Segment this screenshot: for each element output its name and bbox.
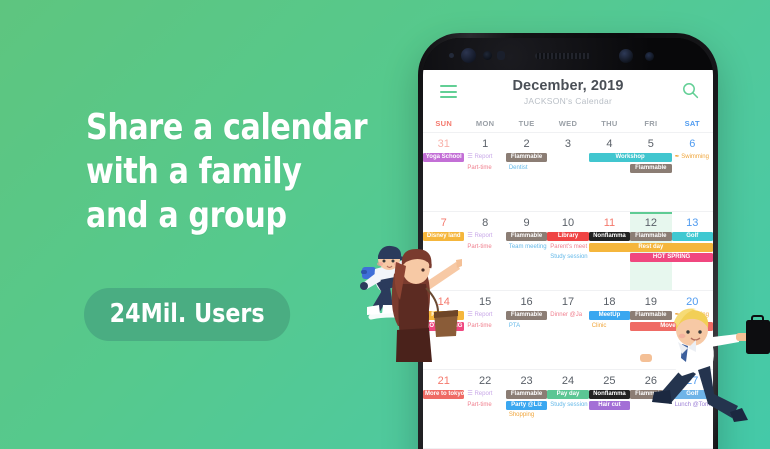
calendar-week-row: 31123456Yoga School☰ ReportPart-timeFlam…: [423, 133, 713, 212]
calendar-event-chip[interactable]: ✒ Swimming: [672, 153, 713, 162]
day-number: 12: [630, 216, 671, 230]
day-number: 17: [547, 295, 588, 309]
headline-line-2: with a family: [86, 150, 367, 194]
calendar-day-cell-17[interactable]: 17: [547, 291, 588, 369]
calendar-event-chip[interactable]: Party @Liz: [506, 401, 547, 410]
calendar-event-chip[interactable]: Pay day: [547, 390, 588, 399]
calendar-event-chip[interactable]: Part-time: [464, 401, 505, 410]
calendar-event-chip[interactable]: Rest day: [589, 243, 713, 252]
day-number: 1: [464, 137, 505, 151]
calendar-week-row: 78910111213Disney land☰ ReportPart-timeF…: [423, 212, 713, 291]
headline-line-1: Share a calendar: [86, 106, 367, 150]
day-number: 25: [589, 374, 630, 388]
calendar-event-chip[interactable]: Flammable: [506, 232, 547, 241]
day-number: 4: [589, 137, 630, 151]
calendar-event-chip[interactable]: Flammable: [506, 390, 547, 399]
calendar-event-chip[interactable]: ☰ Report: [464, 390, 505, 399]
day-header-sat: SAT: [672, 119, 713, 128]
calendar-event-chip[interactable]: Flammable: [506, 153, 547, 162]
calendar-event-chip[interactable]: More to tokyo: [423, 390, 464, 399]
calendar-event-chip[interactable]: Flammable: [506, 311, 547, 320]
calendar-event-chip[interactable]: ☰ Report: [464, 311, 505, 320]
day-number: 8: [464, 216, 505, 230]
day-number: 23: [506, 374, 547, 388]
calendar-event-chip[interactable]: Library: [547, 232, 588, 241]
day-header-fri: FRI: [630, 119, 671, 128]
day-number: 22: [464, 374, 505, 388]
woman-with-handbag-pointing: [382, 238, 462, 363]
calendar-event-chip[interactable]: Nonflamma: [589, 232, 630, 241]
sensor-dot-icon: [449, 53, 454, 58]
earpiece-speaker-icon: [535, 53, 591, 59]
calendar-event-chip[interactable]: Team meeting: [506, 243, 547, 252]
calendar-event-chip[interactable]: Flammable: [630, 232, 671, 241]
day-number: 5: [630, 137, 671, 151]
calendar-day-cell-6[interactable]: 6: [672, 133, 713, 211]
calendar-day-cell-21[interactable]: 21: [423, 370, 464, 448]
calendar-event-chip[interactable]: Dentist: [506, 164, 547, 173]
day-number: 9: [506, 216, 547, 230]
calendar-event-chip[interactable]: ☰ Report: [464, 153, 505, 162]
light-sensor-icon: [645, 52, 654, 61]
user-count-badge: 24Mil. Users: [84, 288, 290, 341]
businessman-with-briefcase: [638, 300, 770, 440]
calendar-day-cell-31[interactable]: 31: [423, 133, 464, 211]
day-header-mon: MON: [464, 119, 505, 128]
calendar-day-cell-3[interactable]: 3: [547, 133, 588, 211]
calendar-event-chip[interactable]: Shopping: [506, 411, 547, 420]
calendar-event-chip[interactable]: Golf: [672, 232, 713, 241]
headline-line-3: and a group: [86, 194, 367, 238]
day-number: 10: [547, 216, 588, 230]
day-number: 31: [423, 137, 464, 151]
calendar-event-chip[interactable]: Dinner @Ja: [547, 311, 588, 320]
day-number: 6: [672, 137, 713, 151]
day-number: 11: [589, 216, 630, 230]
day-number: 3: [547, 137, 588, 151]
day-header-tue: TUE: [506, 119, 547, 128]
calendar-event-chip[interactable]: Yoga School: [423, 153, 464, 162]
day-number: 21: [423, 374, 464, 388]
day-number: 15: [464, 295, 505, 309]
front-camera-icon: [461, 48, 476, 63]
calendar-event-chip[interactable]: MeetUp: [589, 311, 630, 320]
page-title: December, 2019: [423, 78, 713, 94]
day-number: 2: [506, 137, 547, 151]
calendar-day-cell-4[interactable]: 4: [589, 133, 630, 211]
calendar-event-chip[interactable]: Part-time: [464, 322, 505, 331]
calendar-event-chip[interactable]: ☰ Report: [464, 232, 505, 241]
day-number: 7: [423, 216, 464, 230]
calendar-event-chip[interactable]: Flammable: [630, 164, 671, 173]
calendar-event-chip[interactable]: Part-time: [464, 164, 505, 173]
calendar-event-chip[interactable]: Study session: [547, 401, 588, 410]
phone-top-bezel: [423, 38, 713, 70]
day-of-week-header: SUNMONTUEWEDTHUFRISAT: [423, 116, 713, 133]
proximity-sensor-icon: [497, 51, 505, 60]
calendar-event-chip[interactable]: Parent's meet: [547, 243, 588, 252]
day-number: 13: [672, 216, 713, 230]
day-header-thu: THU: [589, 119, 630, 128]
calendar-event-chip[interactable]: Nonflamma: [589, 390, 630, 399]
calendar-event-chip[interactable]: Part-time: [464, 243, 505, 252]
day-header-wed: WED: [547, 119, 588, 128]
calendar-owner-label: JACKSON's Calendar: [423, 96, 713, 106]
day-number: 16: [506, 295, 547, 309]
calendar-event-chip[interactable]: HOT SPRING: [630, 253, 713, 262]
page-headline: Share a calendar with a family and a gro…: [86, 106, 367, 238]
search-icon[interactable]: [682, 82, 699, 99]
calendar-event-chip[interactable]: Study session: [547, 253, 588, 262]
iris-scanner-icon: [483, 51, 492, 60]
calendar-event-chip[interactable]: Workshop: [589, 153, 672, 162]
day-number: 18: [589, 295, 630, 309]
day-number: 24: [547, 374, 588, 388]
app-bar: December, 2019 JACKSON's Calendar: [423, 70, 713, 116]
calendar-event-chip[interactable]: Hair cut: [589, 401, 630, 410]
secondary-camera-icon: [619, 49, 633, 63]
calendar-event-chip[interactable]: Clinic: [589, 322, 630, 331]
calendar-event-chip[interactable]: PTA: [506, 322, 547, 331]
day-header-sun: SUN: [423, 119, 464, 128]
